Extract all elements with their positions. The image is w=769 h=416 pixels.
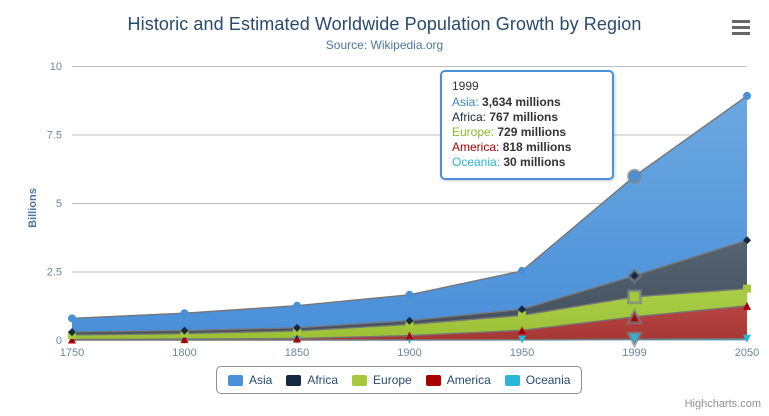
tooltip-header: 1999 — [452, 79, 602, 94]
x-axis-tick-label: 1800 — [172, 347, 196, 359]
y-axis-labels: 02.557.510 — [47, 61, 62, 347]
y-axis-tick-label: 10 — [50, 61, 62, 73]
x-axis-tick-label: 1950 — [510, 347, 534, 359]
y-axis-title: Billions — [27, 188, 39, 228]
tooltip-series-value: 818 millions — [503, 140, 572, 154]
legend-label: Europe — [373, 373, 412, 387]
x-axis-tick-label: 1750 — [60, 347, 84, 359]
tooltip-series-value: 729 millions — [497, 125, 566, 139]
legend-item-europe[interactable]: Europe — [352, 373, 412, 387]
point-marker-asia[interactable] — [293, 302, 301, 310]
chart-tooltip: 1999 Asia: 3,634 millionsAfrica: 767 mil… — [440, 70, 614, 180]
plot-area: 1750180018501900195019992050 02.557.510 … — [0, 0, 769, 416]
tooltip-series-name: Asia: — [452, 95, 482, 109]
legend-label: Africa — [307, 373, 338, 387]
tooltip-row-america: America: 818 millions — [452, 140, 602, 155]
tooltip-series-name: Oceania: — [452, 155, 503, 169]
series-areas — [72, 96, 747, 340]
highcharts-container: Historic and Estimated Worldwide Populat… — [0, 0, 769, 416]
legend-swatch-icon — [286, 375, 301, 386]
tooltip-row-africa: Africa: 767 millions — [452, 110, 602, 125]
legend-label: Asia — [249, 373, 272, 387]
legend-swatch-icon — [228, 375, 243, 386]
x-axis-tick-label: 2050 — [735, 347, 759, 359]
tooltip-series-name: Europe: — [452, 125, 497, 139]
point-marker-europe[interactable] — [743, 285, 751, 293]
tooltip-series-value: 3,634 millions — [482, 95, 561, 109]
point-marker-asia[interactable] — [518, 267, 526, 275]
tooltip-row-europe: Europe: 729 millions — [452, 125, 602, 140]
chart-legend: AsiaAfricaEuropeAmericaOceania — [216, 366, 582, 394]
legend-swatch-icon — [352, 375, 367, 386]
point-marker-oceania[interactable] — [629, 333, 641, 345]
x-axis-tick-label: 1900 — [397, 347, 421, 359]
y-axis-tick-label: 5 — [56, 198, 62, 210]
legend-item-asia[interactable]: Asia — [228, 373, 272, 387]
point-marker-asia[interactable] — [68, 314, 76, 322]
tooltip-row-oceania: Oceania: 30 millions — [452, 155, 602, 170]
legend-label: America — [447, 373, 491, 387]
legend-item-oceania[interactable]: Oceania — [505, 373, 571, 387]
tooltip-series-value: 30 millions — [503, 155, 565, 169]
y-axis-tick-label: 0 — [56, 335, 62, 347]
x-axis-tick-label: 1850 — [285, 347, 309, 359]
tooltip-rows: Asia: 3,634 millionsAfrica: 767 millions… — [452, 95, 602, 170]
point-marker-asia[interactable] — [743, 92, 751, 100]
legend-item-america[interactable]: America — [426, 373, 491, 387]
tooltip-series-value: 767 millions — [489, 110, 558, 124]
point-marker-asia[interactable] — [181, 309, 189, 317]
point-marker-europe[interactable] — [629, 291, 641, 303]
tooltip-series-name: America: — [452, 140, 503, 154]
tooltip-row-asia: Asia: 3,634 millions — [452, 95, 602, 110]
y-axis-tick-label: 7.5 — [47, 130, 62, 142]
legend-swatch-icon — [426, 375, 441, 386]
x-axis-labels: 1750180018501900195019992050 — [60, 347, 759, 359]
legend-label: Oceania — [526, 373, 571, 387]
point-marker-asia[interactable] — [406, 291, 414, 299]
y-axis-tick-label: 2.5 — [47, 267, 62, 279]
point-marker-asia[interactable] — [629, 170, 641, 182]
x-axis-tick-label: 1999 — [622, 347, 646, 359]
legend-swatch-icon — [505, 375, 520, 386]
tooltip-series-name: Africa: — [452, 110, 489, 124]
legend-item-africa[interactable]: Africa — [286, 373, 338, 387]
credits-label[interactable]: Highcharts.com — [685, 398, 761, 410]
